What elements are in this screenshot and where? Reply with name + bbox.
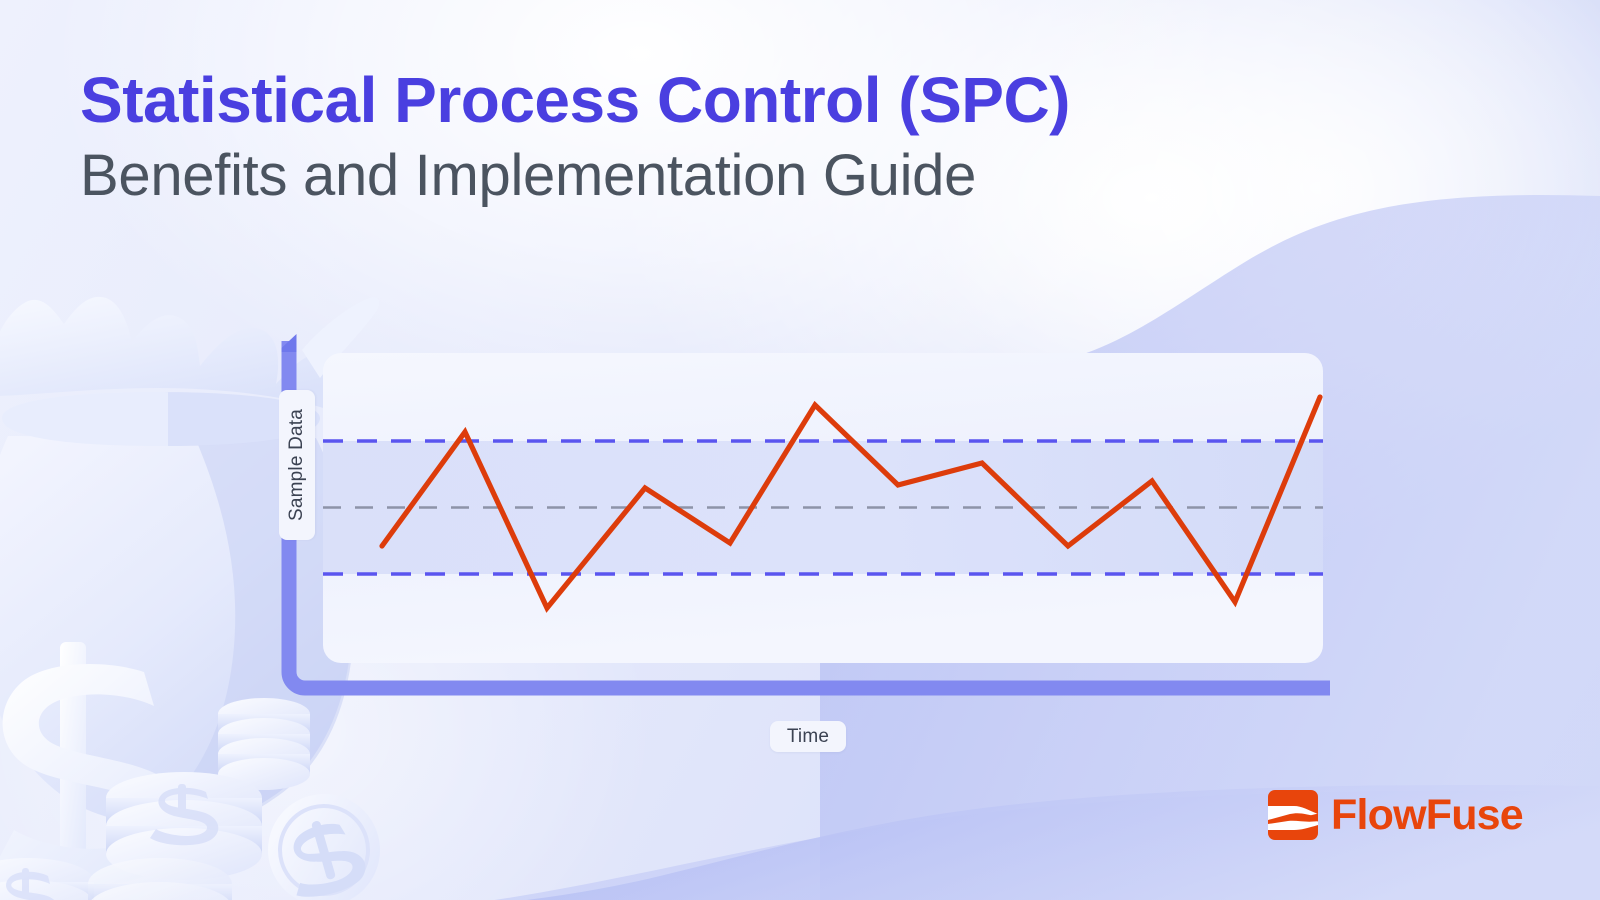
spc-banner: Statistical Process Control (SPC) Benefi… — [0, 0, 1600, 900]
flowfuse-logo-icon — [1268, 790, 1318, 840]
flowfuse-logo[interactable]: FlowFuse — [1268, 790, 1523, 840]
flowfuse-wordmark: FlowFuse — [1331, 794, 1523, 837]
page-title: Statistical Process Control (SPC) — [80, 66, 1300, 135]
page-subtitle: Benefits and Implementation Guide — [80, 145, 1300, 208]
heading-block: Statistical Process Control (SPC) Benefi… — [80, 66, 1300, 208]
